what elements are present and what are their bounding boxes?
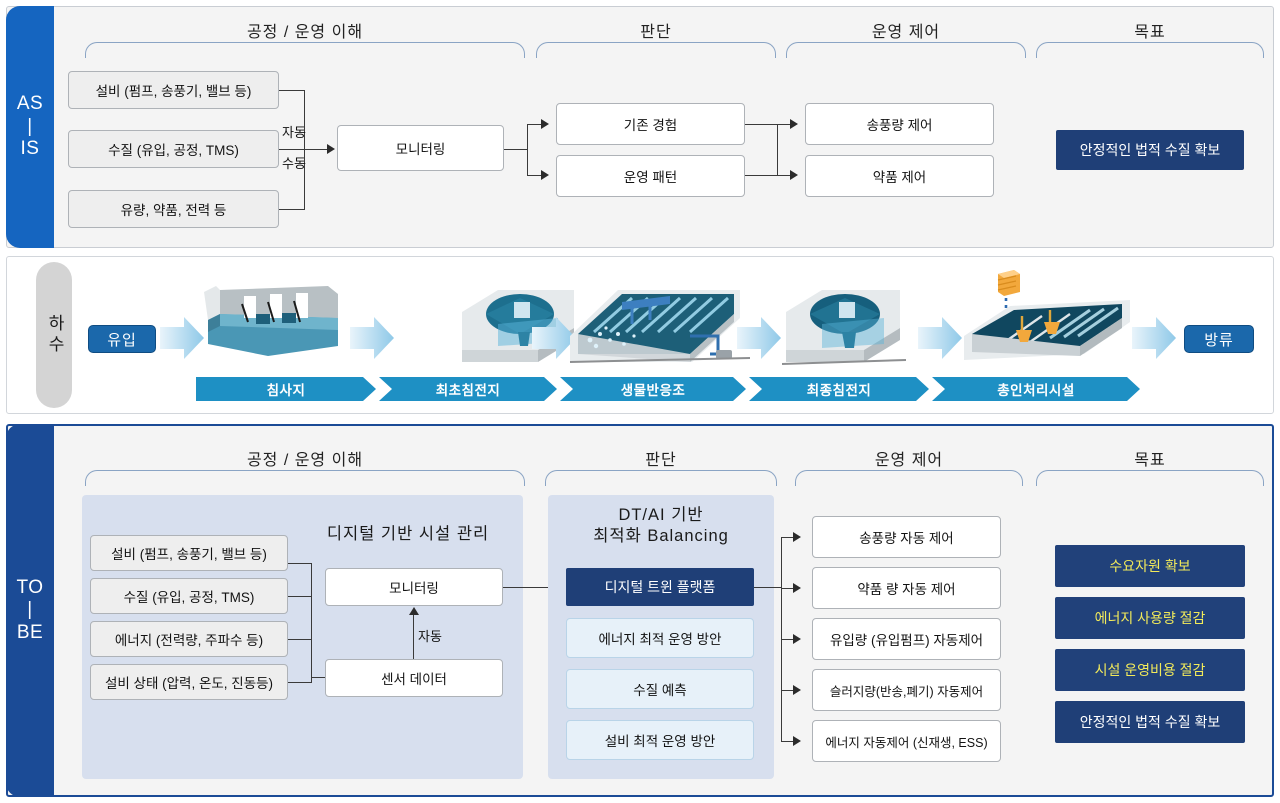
arrow-head-icon: [327, 144, 335, 154]
as-is-label-line-3: IS: [17, 138, 43, 160]
to-be-bracket-3: [795, 470, 1023, 486]
to-be-goal-box[interactable]: 수요자원 확보: [1055, 545, 1245, 587]
to-be-bracket-1: [85, 470, 525, 486]
dtai-item-box[interactable]: 에너지 최적 운영 방안: [566, 618, 754, 658]
to-be-goal-box[interactable]: 안정적인 법적 수질 확보: [1055, 701, 1245, 743]
secondary-clarifier-icon: [782, 288, 906, 368]
as-is-bracket-3: [786, 42, 1026, 58]
process-flow-label: 하수: [36, 262, 72, 408]
as-is-control-box[interactable]: 약품 제어: [805, 155, 994, 197]
as-is-judgement-box[interactable]: 운영 패턴: [556, 155, 745, 197]
to-be-control-box[interactable]: 슬러지량(반송,폐기) 자동제어: [812, 669, 1001, 711]
to-be-bracket-4: [1036, 470, 1264, 486]
to-be-input-box[interactable]: 설비 (펌프, 송풍기, 밸브 등): [90, 535, 288, 571]
as-is-input-box[interactable]: 설비 (펌프, 송풍기, 밸브 등): [68, 71, 279, 109]
dtai-title-line-1: DT/AI 기반: [548, 505, 774, 526]
connector-line: [288, 563, 312, 564]
process-stage-label: 생물반응조: [560, 377, 746, 401]
connector-line: [288, 682, 312, 683]
connector-line: [279, 90, 305, 91]
process-stage-label: 최초침전지: [379, 377, 557, 401]
as-is-input-box[interactable]: 유량, 약품, 전력 등: [68, 190, 279, 228]
as-is-bracket-4: [1036, 42, 1264, 58]
grit-chamber-icon: [198, 284, 346, 366]
connector-line: [279, 209, 305, 210]
as-is-bracket-2: [536, 42, 776, 58]
to-be-label-line-3: BE: [16, 622, 43, 644]
connector-line: [754, 587, 782, 588]
as-is-monitoring-box[interactable]: 모니터링: [337, 125, 504, 171]
as-is-bracket-1: [85, 42, 525, 58]
dtai-title-line-2: 최적화 Balancing: [548, 526, 774, 547]
to-be-bracket-2: [545, 470, 777, 486]
as-is-label-line-1: AS: [17, 93, 43, 115]
to-be-control-box[interactable]: 유입량 (유입펌프) 자동제어: [812, 618, 1001, 660]
as-is-input-box[interactable]: 수질 (유입, 공정, TMS): [68, 130, 279, 168]
as-is-column-header-3: 운영 제어: [786, 18, 1026, 42]
arrow-head-icon: [790, 119, 798, 129]
facility-panel-title: 디지털 기반 시설 관리: [300, 524, 516, 545]
as-is-column-header-4: 목표: [1036, 18, 1264, 42]
to-be-control-box[interactable]: 약품 량 자동 제어: [812, 567, 1001, 609]
dtai-item-box[interactable]: 수질 예측: [566, 669, 754, 709]
digital-twin-platform-box[interactable]: 디지털 트윈 플랫폼: [566, 568, 754, 606]
to-be-label: TO | BE: [6, 424, 54, 797]
arrow-head-icon: [793, 685, 801, 695]
connector-line: [413, 614, 414, 659]
to-be-column-header-2: 판단: [545, 446, 777, 470]
connector-line: [777, 124, 778, 176]
dtai-item-box[interactable]: 설비 최적 운영 방안: [566, 720, 754, 760]
connector-line: [504, 149, 528, 150]
as-is-control-box[interactable]: 송풍량 제어: [805, 103, 994, 145]
flow-arrow-icon: [1132, 317, 1176, 359]
process-stage-label: 최종침전지: [749, 377, 929, 401]
dtai-panel-title: DT/AI 기반 최적화 Balancing: [548, 505, 774, 548]
diagram-root: AS | IS 공정 / 운영 이해 판단 운영 제어 목표 설비 (펌프, 송…: [0, 0, 1280, 803]
arrow-head-icon: [409, 607, 419, 615]
flow-arrow-icon: [350, 317, 394, 359]
connector-line: [304, 149, 328, 150]
arrow-head-icon: [793, 736, 801, 746]
to-be-label-line-1: TO: [16, 577, 43, 599]
process-label-line-1: 하: [45, 314, 64, 335]
connector-line: [745, 175, 790, 176]
to-be-goal-box[interactable]: 시설 운영비용 절감: [1055, 649, 1245, 691]
arrow-head-icon: [793, 532, 801, 542]
arrow-head-icon: [790, 170, 798, 180]
connector-line: [527, 124, 528, 176]
to-be-input-box[interactable]: 에너지 (전력량, 주파수 등): [90, 621, 288, 657]
to-be-control-box[interactable]: 송풍량 자동 제어: [812, 516, 1001, 558]
to-be-column-header-1: 공정 / 운영 이해: [85, 446, 525, 470]
flow-arrow-icon: [737, 317, 781, 359]
connector-label-auto: 자동: [282, 122, 306, 141]
as-is-column-header-1: 공정 / 운영 이해: [85, 18, 525, 42]
outlet-badge: 방류: [1184, 325, 1254, 353]
connector-line: [311, 563, 312, 683]
to-be-input-box[interactable]: 수질 (유입, 공정, TMS): [90, 578, 288, 614]
as-is-column-header-2: 판단: [536, 18, 776, 42]
as-is-goal-box[interactable]: 안정적인 법적 수질 확보: [1056, 130, 1244, 170]
arrow-head-icon: [793, 583, 801, 593]
connector-label-manual: 수동: [282, 153, 306, 172]
connector-line: [279, 149, 305, 150]
as-is-label: AS | IS: [6, 6, 54, 248]
sensor-data-box[interactable]: 센서 데이터: [325, 659, 503, 697]
bioreactor-icon: [566, 284, 750, 370]
as-is-label-line-2: |: [17, 116, 43, 138]
to-be-column-header-3: 운영 제어: [795, 446, 1023, 470]
to-be-input-box[interactable]: 설비 상태 (압력, 온도, 진동등): [90, 664, 288, 700]
phosphorus-facility-icon: [958, 268, 1138, 372]
flow-arrow-icon: [918, 317, 962, 359]
arrow-head-icon: [541, 170, 549, 180]
process-stage-label: 총인처리시설: [932, 377, 1140, 401]
connector-line: [288, 639, 312, 640]
inlet-badge: 유입: [88, 325, 156, 353]
connector-line: [745, 124, 790, 125]
to-be-column-header-4: 목표: [1036, 446, 1264, 470]
as-is-judgement-box[interactable]: 기존 경험: [556, 103, 745, 145]
connector-line: [288, 596, 312, 597]
to-be-label-line-2: |: [16, 599, 43, 621]
process-label-line-2: 수: [45, 335, 64, 356]
to-be-goal-box[interactable]: 에너지 사용량 절감: [1055, 597, 1245, 639]
to-be-monitoring-box[interactable]: 모니터링: [325, 568, 503, 606]
connector-label-auto: 자동: [418, 626, 442, 645]
process-stage-label: 침사지: [196, 377, 376, 401]
to-be-control-box[interactable]: 에너지 자동제어 (신재생, ESS): [812, 720, 1001, 762]
arrow-head-icon: [541, 119, 549, 129]
arrow-head-icon: [793, 634, 801, 644]
